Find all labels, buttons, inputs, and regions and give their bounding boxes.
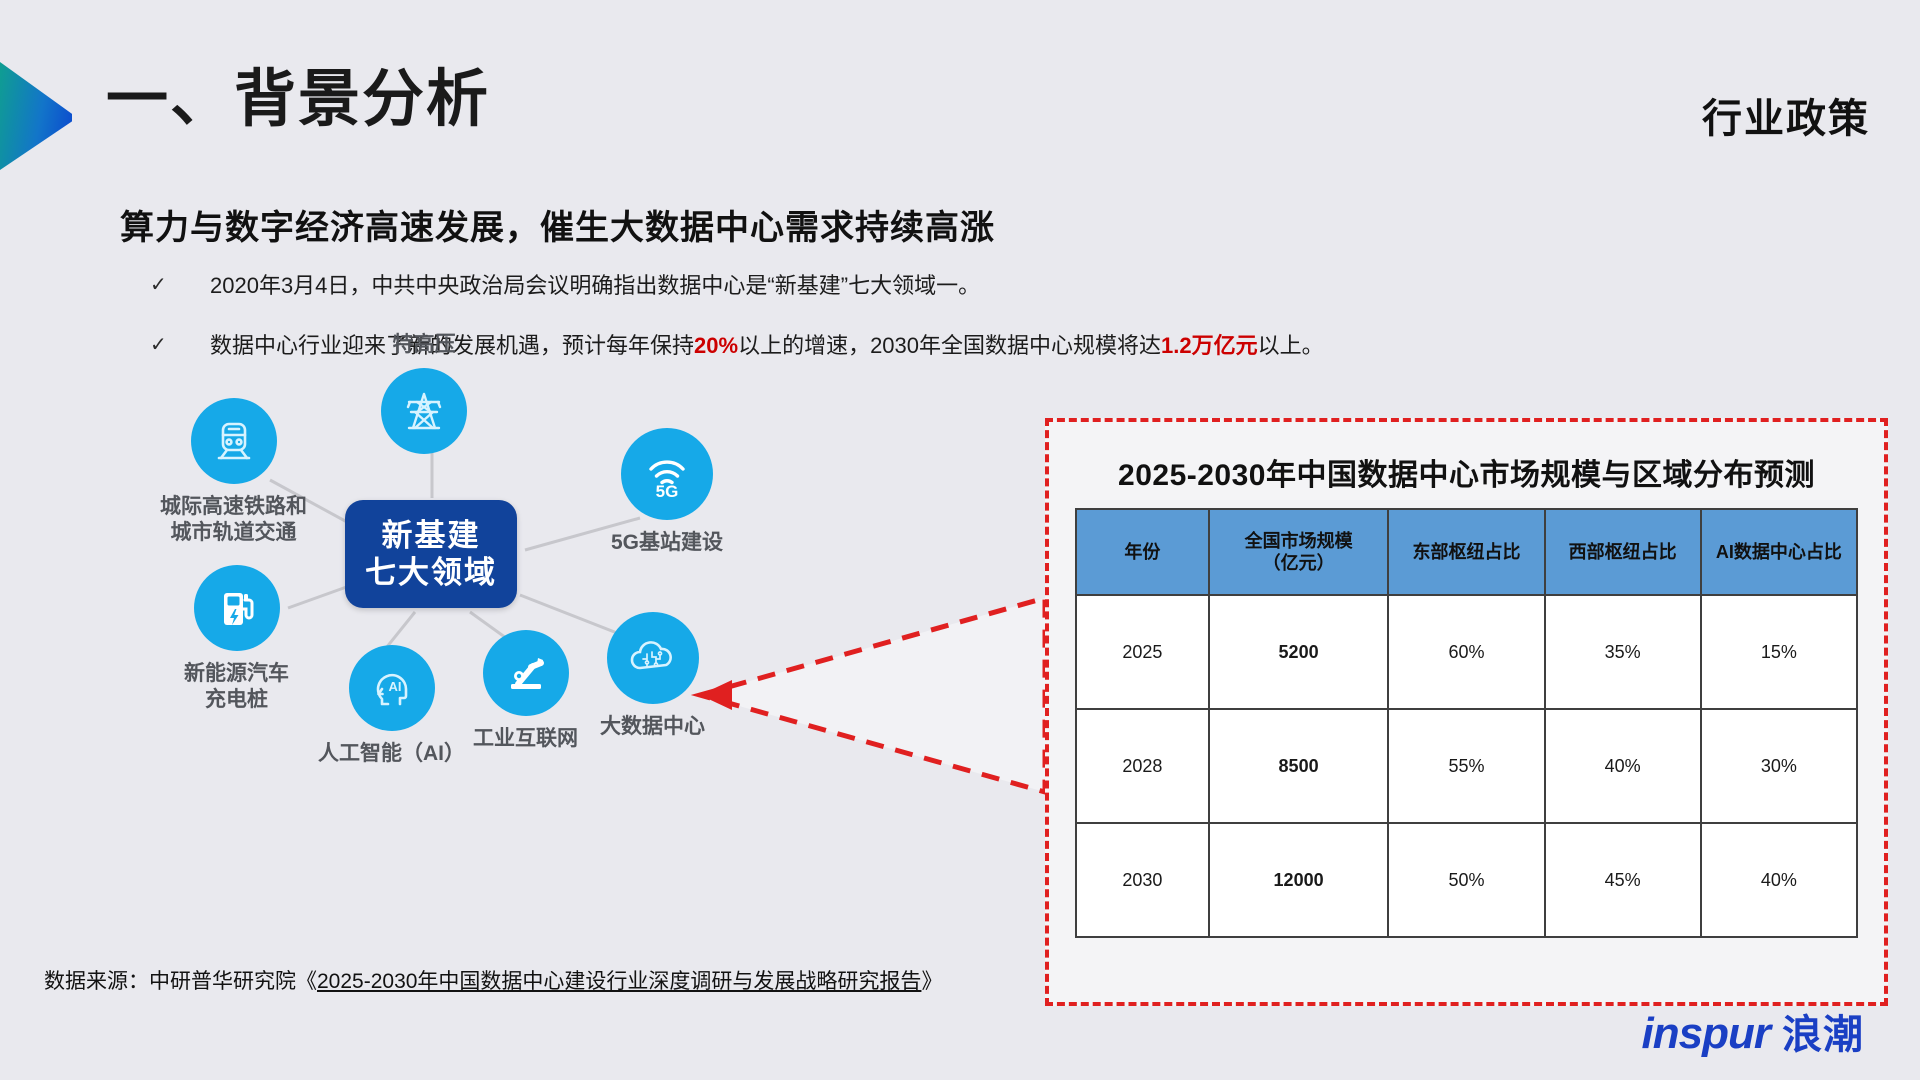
cell-west-share: 40% <box>1545 709 1701 823</box>
subtitle: 算力与数字经济高速发展，催生大数据中心需求持续高涨 <box>120 200 995 249</box>
callout-pointer <box>690 590 1070 800</box>
checkmark-icon: ✓ <box>150 332 188 357</box>
diagram-node-nev[interactable]: 新能源汽车充电桩 <box>184 565 289 712</box>
train-icon <box>191 398 277 484</box>
source-note: 数据来源：中研普华研究院《2025-2030年中国数据中心建设行业深度调研与发展… <box>44 965 942 995</box>
cell-ai-share: 15% <box>1701 595 1857 709</box>
source-report-link[interactable]: 2025-2030年中国数据中心建设行业深度调研与发展战略研究报告 <box>317 970 921 993</box>
cell-ai-share: 30% <box>1701 709 1857 823</box>
cell-east-share: 60% <box>1388 595 1544 709</box>
market-forecast-table: 年份 全国市场规模（亿元） 东部枢纽占比 西部枢纽占比 AI数据中心占比 202… <box>1075 508 1858 938</box>
center-node-line-2: 七大领域 <box>365 554 497 591</box>
inspur-logo: inspur 浪潮 <box>1642 1002 1864 1060</box>
cell-year: 2028 <box>1076 709 1209 823</box>
slide-root: 一、背景分析 行业政策 算力与数字经济高速发展，催生大数据中心需求持续高涨 ✓ … <box>0 0 1920 1080</box>
col-header-west-share: 西部枢纽占比 <box>1545 509 1701 595</box>
cell-year: 2030 <box>1076 823 1209 937</box>
header-section-label: 行业政策 <box>1702 86 1870 144</box>
bullet-item-1: ✓ 2020年3月4日，中共中央政治局会议明确指出数据中心是“新基建”七大领域一… <box>150 268 980 300</box>
source-prefix: 数据来源：中研普华研究院《 <box>44 970 317 993</box>
diagram-node-iiot[interactable]: 工业互联网 <box>473 630 578 752</box>
market-forecast-callout: 2025-2030年中国数据中心市场规模与区域分布预测 CIRN CIRN CI… <box>1045 418 1888 1006</box>
diagram-node-5g[interactable]: 5G 5G基站建设 <box>611 428 723 556</box>
cell-west-share: 45% <box>1545 823 1701 937</box>
diagram-node-5g-label: 5G基站建设 <box>611 530 723 556</box>
table-row: 2028 8500 55% 40% 30% <box>1076 709 1857 823</box>
center-node-line-1: 新基建 <box>382 517 481 554</box>
5g-wifi-icon: 5G <box>621 428 713 520</box>
cell-east-share: 50% <box>1388 823 1544 937</box>
cell-ai-share: 40% <box>1701 823 1857 937</box>
bullet-text-2: 数据中心行业迎来了新的发展机遇，预计每年保持20%以上的增速，2030年全国数据… <box>188 328 1324 360</box>
bullet-text-2-part-2: 以上的增速，2030年全国数据中心规模将达 <box>738 333 1161 358</box>
cell-market-size: 5200 <box>1209 595 1389 709</box>
power-tower-icon <box>381 368 467 454</box>
svg-text:AI: AI <box>388 679 401 694</box>
diagram-center-node: 新基建 七大领域 <box>345 500 517 608</box>
bullet-item-2: ✓ 数据中心行业迎来了新的发展机遇，预计每年保持20%以上的增速，2030年全国… <box>150 328 1324 360</box>
cell-west-share: 35% <box>1545 595 1701 709</box>
logo-cn-text: 浪潮 <box>1782 1002 1864 1060</box>
checkmark-icon: ✓ <box>150 272 188 297</box>
robot-arm-icon <box>483 630 569 716</box>
col-header-market-size: 全国市场规模（亿元） <box>1209 509 1389 595</box>
bullet-highlight-scale: 1.2万亿元 <box>1161 333 1258 358</box>
col-header-year: 年份 <box>1076 509 1209 595</box>
diagram-node-nev-label: 新能源汽车充电桩 <box>184 661 289 712</box>
table-header-row: 年份 全国市场规模（亿元） 东部枢纽占比 西部枢纽占比 AI数据中心占比 <box>1076 509 1857 595</box>
bullet-text-1: 2020年3月4日，中共中央政治局会议明确指出数据中心是“新基建”七大领域一。 <box>188 268 980 300</box>
cell-market-size: 8500 <box>1209 709 1389 823</box>
market-forecast-table-wrapper: 年份 全国市场规模（亿元） 东部枢纽占比 西部枢纽占比 AI数据中心占比 202… <box>1075 508 1858 938</box>
table-row: 2025 5200 60% 35% 15% <box>1076 595 1857 709</box>
table-row: 2030 12000 50% 45% 40% <box>1076 823 1857 937</box>
diagram-node-iiot-label: 工业互联网 <box>473 726 578 752</box>
diagram-node-uhv-label: 特高压 <box>393 332 456 358</box>
diagram-node-rail-label: 城际高速铁路和城市轨道交通 <box>160 494 307 545</box>
ai-head-icon: AI <box>349 645 435 731</box>
cell-year: 2025 <box>1076 595 1209 709</box>
source-suffix: 》 <box>921 970 942 993</box>
svg-text:5G: 5G <box>656 482 679 501</box>
ev-charger-icon <box>194 565 280 651</box>
cell-market-size: 12000 <box>1209 823 1389 937</box>
cloud-circuit-icon <box>607 612 699 704</box>
col-header-ai-share: AI数据中心占比 <box>1701 509 1857 595</box>
diagram-node-ai-label: 人工智能（AI） <box>318 741 465 767</box>
header-arrow-decoration <box>0 62 72 170</box>
bullet-text-2-part-3: 以上。 <box>1258 333 1324 358</box>
cell-east-share: 55% <box>1388 709 1544 823</box>
logo-en-text: inspur <box>1642 1009 1770 1059</box>
diagram-node-ai[interactable]: AI 人工智能（AI） <box>318 645 465 767</box>
diagram-node-uhv[interactable]: 特高压 <box>381 332 467 454</box>
callout-title: 2025-2030年中国数据中心市场规模与区域分布预测 <box>1049 450 1884 494</box>
col-header-east-share: 东部枢纽占比 <box>1388 509 1544 595</box>
diagram-node-rail[interactable]: 城际高速铁路和城市轨道交通 <box>160 398 307 545</box>
bullet-highlight-growth: 20% <box>694 333 738 358</box>
page-title: 一、背景分析 <box>106 66 490 134</box>
